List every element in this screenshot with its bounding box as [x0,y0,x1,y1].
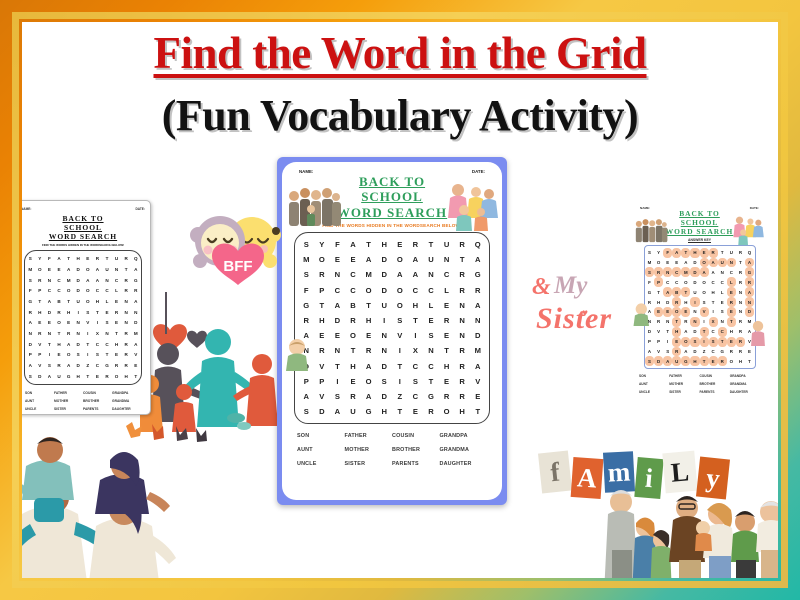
word-list-item[interactable]: GRANDPA [112,391,141,395]
letter-cell[interactable]: S [45,360,55,371]
letter-cell[interactable]: S [298,267,314,282]
letter-grid-container[interactable]: SYFATHERTURQMOEEADOAUNTASRNCMDAANCRGFPCC… [24,250,142,384]
letter-cell[interactable]: A [298,389,314,404]
letter-cell[interactable]: H [361,313,377,328]
letter-cell[interactable]: S [330,389,346,404]
letter-cell[interactable]: S [298,404,314,419]
letter-cell[interactable]: V [131,350,141,361]
letter-cell[interactable]: P [298,374,314,389]
letter-cell[interactable]: T [131,371,141,382]
letter-cell[interactable]: D [376,267,392,282]
letter-cell[interactable]: T [345,343,361,358]
letter-cell[interactable]: T [408,313,424,328]
letter-cell[interactable]: R [102,371,112,382]
letter-cell[interactable]: E [663,307,672,317]
letter-cell[interactable]: H [121,371,131,382]
letter-cell[interactable]: O [727,356,736,366]
letter-cell[interactable]: N [690,307,699,317]
letter-cell[interactable]: E [314,328,330,343]
letter-cell[interactable]: E [709,356,718,366]
letter-cell[interactable]: L [718,287,727,297]
letter-cell[interactable]: G [681,356,690,366]
letter-cell[interactable]: T [45,339,55,350]
worksheet-thumbnail-bw[interactable]: NAME: DATE: BACK TO SCHOOL WORD SEARCH F… [22,200,151,415]
letter-cell[interactable]: A [645,347,654,357]
letter-cell[interactable]: F [645,277,654,287]
letter-cell[interactable]: D [690,347,699,357]
letter-cell[interactable]: D [376,252,392,267]
worksheet-main-color[interactable]: NAME: DATE: BACK TO SCHOOL WORD SEARCH F… [277,157,507,505]
letter-cell[interactable]: D [35,371,45,382]
letter-cell[interactable]: O [83,285,93,296]
letter-cell[interactable]: E [718,297,727,307]
letter-cell[interactable]: C [112,275,122,286]
letter-cell[interactable]: E [330,252,346,267]
letter-cell[interactable]: C [102,285,112,296]
letter-cell[interactable]: I [663,337,672,347]
letter-cell[interactable]: P [314,283,330,298]
letter-cell[interactable]: R [121,275,131,286]
letter-cell[interactable]: T [654,287,663,297]
letter-cell[interactable]: I [392,343,408,358]
letter-cell[interactable]: S [663,347,672,357]
letter-cell[interactable]: I [45,350,55,361]
letter-cell[interactable]: C [709,347,718,357]
letter-cell[interactable]: E [345,374,361,389]
letter-cell[interactable]: A [745,327,754,337]
letter-cell[interactable]: H [376,237,392,252]
letter-cell[interactable]: O [681,277,690,287]
letter-cell[interactable]: V [83,318,93,329]
letter-cell[interactable]: U [376,298,392,313]
letter-cell[interactable]: T [361,237,377,252]
word-list-item[interactable]: FATHER [54,391,83,395]
letter-cell[interactable]: S [25,275,35,286]
word-list-item[interactable]: BROTHER [700,382,730,386]
letter-cell[interactable]: N [121,296,131,307]
letter-cell[interactable]: T [392,404,408,419]
letter-cell[interactable]: D [690,277,699,287]
letter-cell[interactable]: O [83,296,93,307]
letter-cell[interactable]: R [298,313,314,328]
letter-cell[interactable]: C [663,277,672,287]
letter-cell[interactable]: N [112,264,122,275]
letter-cell[interactable]: R [439,313,455,328]
letter-cell[interactable]: A [131,339,141,350]
letter-cell[interactable]: A [470,252,486,267]
letter-cell[interactable]: G [131,275,141,286]
letter-cell[interactable]: R [454,374,470,389]
letter-cell[interactable]: R [709,248,718,258]
word-list-item[interactable]: GRANDPA [730,374,760,378]
letter-cell[interactable]: C [718,277,727,287]
letter-cell[interactable]: T [102,350,112,361]
letter-cell[interactable]: T [736,258,745,268]
letter-cell[interactable]: B [54,296,64,307]
letter-cell[interactable]: S [392,313,408,328]
word-list-item[interactable]: SON [297,433,345,439]
letter-cell[interactable]: E [54,264,64,275]
letter-cell[interactable]: Y [314,237,330,252]
letter-cell[interactable]: E [45,318,55,329]
letter-cell[interactable]: E [727,287,736,297]
letter-cell[interactable]: A [330,298,346,313]
letter-cell[interactable]: S [690,337,699,347]
letter-cell[interactable]: A [25,360,35,371]
letter-cell[interactable]: N [745,297,754,307]
letter-cell[interactable]: N [727,258,736,268]
letter-cell[interactable]: H [690,356,699,366]
letter-cell[interactable]: P [645,337,654,347]
letter-cell[interactable]: C [718,327,727,337]
letter-cell[interactable]: C [408,358,424,373]
letter-cell[interactable]: T [83,339,93,350]
letter-cell[interactable]: N [25,328,35,339]
letter-cell[interactable]: D [376,283,392,298]
letter-cell[interactable]: N [102,328,112,339]
letter-cell[interactable]: T [454,252,470,267]
letter-cell[interactable]: C [709,277,718,287]
letter-cell[interactable]: R [718,356,727,366]
letter-cell[interactable]: H [672,327,681,337]
word-list-item[interactable]: PARENTS [392,461,440,467]
letter-cell[interactable]: R [121,285,131,296]
letter-cell[interactable]: T [663,327,672,337]
letter-cell[interactable]: R [654,317,663,327]
word-list-item[interactable]: AUNT [639,382,669,386]
letter-cell[interactable]: S [423,328,439,343]
letter-cell[interactable]: E [361,328,377,343]
letter-cell[interactable]: E [439,298,455,313]
letter-cell[interactable]: G [361,404,377,419]
letter-cell[interactable]: C [54,285,64,296]
letter-cell[interactable]: R [131,285,141,296]
word-list-item[interactable]: AUNT [297,447,345,453]
letter-cell[interactable]: T [470,404,486,419]
letter-cell[interactable]: I [83,350,93,361]
letter-cell[interactable]: I [709,307,718,317]
letter-cell[interactable]: R [736,327,745,337]
letter-cell[interactable]: S [73,350,83,361]
letter-cell[interactable]: H [314,313,330,328]
letter-cell[interactable]: Z [83,360,93,371]
letter-cell[interactable]: E [745,347,754,357]
letter-cell[interactable]: O [700,258,709,268]
letter-cell[interactable]: N [470,313,486,328]
letter-cell[interactable]: V [470,374,486,389]
word-list-item[interactable]: BROTHER [83,399,112,403]
letter-cell[interactable]: A [361,252,377,267]
letter-cell[interactable]: D [376,389,392,404]
letter-cell[interactable]: D [330,313,346,328]
letter-cell[interactable]: C [423,283,439,298]
letter-cell[interactable]: E [439,328,455,343]
letter-cell[interactable]: D [654,356,663,366]
letter-cell[interactable]: Q [745,248,754,258]
letter-cell[interactable]: S [298,237,314,252]
letter-cell[interactable]: I [700,337,709,347]
letter-cell[interactable]: S [645,248,654,258]
letter-cell[interactable]: I [690,297,699,307]
letter-cell[interactable]: G [102,360,112,371]
letter-cell[interactable]: P [25,350,35,361]
word-list-item[interactable]: PARENTS [700,390,730,394]
letter-cell[interactable]: B [672,287,681,297]
letter-cell[interactable]: T [35,296,45,307]
letter-cell[interactable]: E [35,318,45,329]
letter-cell[interactable]: C [345,267,361,282]
letter-cell[interactable]: V [654,327,663,337]
letter-cell[interactable]: O [681,337,690,347]
letter-cell[interactable]: O [83,264,93,275]
letter-cell[interactable]: S [700,297,709,307]
letter-cell[interactable]: R [54,360,64,371]
letter-cell[interactable]: D [745,307,754,317]
letter-cell[interactable]: U [672,356,681,366]
letter-cell[interactable]: A [25,318,35,329]
letter-cell[interactable]: E [681,307,690,317]
letter-cell[interactable]: S [102,318,112,329]
letter-cell[interactable]: C [345,283,361,298]
word-list-item[interactable]: MOTHER [54,399,83,403]
word-list-item[interactable]: GRANDMA [112,399,141,403]
letter-cell[interactable]: D [663,297,672,307]
letter-cell[interactable]: X [93,328,103,339]
letter-cell[interactable]: T [727,317,736,327]
letter-cell[interactable]: S [93,350,103,361]
letter-cell[interactable]: A [93,275,103,286]
letter-cell[interactable]: L [102,296,112,307]
letter-cell[interactable]: N [718,317,727,327]
letter-cell[interactable]: R [112,307,122,318]
letter-cell[interactable]: Y [35,253,45,264]
letter-cell[interactable]: A [64,360,74,371]
letter-cell[interactable]: E [727,307,736,317]
letter-cell[interactable]: E [439,374,455,389]
word-list-item[interactable]: SISTER [669,390,699,394]
letter-cell[interactable]: R [736,317,745,327]
letter-cell[interactable]: N [330,343,346,358]
letter-cell[interactable]: R [314,267,330,282]
letter-cell[interactable]: P [314,374,330,389]
letter-cell[interactable]: E [64,318,74,329]
letter-cell[interactable]: R [121,360,131,371]
letter-cell[interactable]: N [645,317,654,327]
letter-cell[interactable]: U [54,371,64,382]
letter-cell[interactable]: R [727,297,736,307]
letter-cell[interactable]: G [423,389,439,404]
letter-cell[interactable]: R [121,328,131,339]
word-list-item[interactable]: DAUGHTER [730,390,760,394]
letter-cell[interactable]: A [361,358,377,373]
letter-cell[interactable]: H [736,356,745,366]
letter-cell[interactable]: U [690,287,699,297]
letter-cell[interactable]: A [681,347,690,357]
letter-cell[interactable]: C [439,267,455,282]
letter-cell[interactable]: R [64,328,74,339]
letter-cell[interactable]: E [330,328,346,343]
letter-cell[interactable]: E [654,307,663,317]
word-list-item[interactable]: GRANDMA [730,382,760,386]
letter-cell[interactable]: Q [131,253,141,264]
letter-cell[interactable]: R [35,275,45,286]
word-list-item[interactable]: MOTHER [345,447,393,453]
letter-cell[interactable]: E [45,264,55,275]
letter-cell[interactable]: U [727,248,736,258]
letter-cell[interactable]: C [709,327,718,337]
letter-cell[interactable]: R [736,337,745,347]
letter-cell[interactable]: M [470,343,486,358]
letter-cell[interactable]: S [408,374,424,389]
letter-cell[interactable]: R [93,253,103,264]
letter-cell[interactable]: A [93,264,103,275]
word-list-item[interactable]: SISTER [54,407,83,411]
letter-cell[interactable]: V [745,337,754,347]
letter-cell[interactable]: N [376,343,392,358]
letter-cell[interactable]: A [645,307,654,317]
letter-cell[interactable]: S [645,356,654,366]
letter-cell[interactable]: F [298,283,314,298]
letter-cell[interactable]: T [681,287,690,297]
letter-cell[interactable]: N [718,267,727,277]
letter-cell[interactable]: T [423,374,439,389]
letter-cell[interactable]: R [35,328,45,339]
letter-cell[interactable]: O [672,307,681,317]
letter-cell[interactable]: N [423,267,439,282]
letter-cell[interactable]: S [83,307,93,318]
letter-cell[interactable]: B [345,298,361,313]
letter-cell[interactable]: X [408,343,424,358]
letter-cell[interactable]: T [700,356,709,366]
letter-cell[interactable]: N [663,267,672,277]
letter-cell[interactable]: D [73,360,83,371]
letter-cell[interactable]: T [681,248,690,258]
letter-cell[interactable]: U [102,264,112,275]
word-list-item[interactable]: SON [639,374,669,378]
letter-cell[interactable]: N [439,252,455,267]
letter-cell[interactable]: A [681,258,690,268]
letter-cell[interactable]: R [314,343,330,358]
letter-cell[interactable]: T [745,356,754,366]
letter-cell[interactable]: A [64,339,74,350]
word-list-item[interactable]: FATHER [345,433,393,439]
letter-cell[interactable]: E [54,350,64,361]
word-list-item[interactable]: GRANDPA [440,433,488,439]
letter-cell[interactable]: D [45,307,55,318]
letter-cell[interactable]: E [93,371,103,382]
letter-cell[interactable]: P [654,277,663,287]
letter-cell[interactable]: R [345,313,361,328]
letter-cell[interactable]: I [73,307,83,318]
letter-cell[interactable]: V [314,358,330,373]
letter-cell[interactable]: O [345,328,361,343]
letter-cell[interactable]: D [73,285,83,296]
letter-cell[interactable]: T [330,358,346,373]
letter-cell[interactable]: T [392,358,408,373]
letter-cell[interactable]: I [83,328,93,339]
letter-cell[interactable]: R [361,343,377,358]
letter-cell[interactable]: R [736,267,745,277]
letter-cell[interactable]: A [131,264,141,275]
letter-cell[interactable]: F [25,285,35,296]
letter-cell[interactable]: H [73,253,83,264]
letter-cell[interactable]: H [73,371,83,382]
letter-cell[interactable]: D [645,327,654,337]
letter-cell[interactable]: U [439,237,455,252]
letter-cell[interactable]: A [345,237,361,252]
letter-cell[interactable]: T [112,328,122,339]
letter-cell[interactable]: V [392,328,408,343]
word-list-item[interactable]: BROTHER [392,447,440,453]
letter-cell[interactable]: G [718,347,727,357]
letter-cell[interactable]: O [654,258,663,268]
letter-cell[interactable]: N [121,307,131,318]
letter-cell[interactable]: R [672,347,681,357]
letter-cell[interactable]: D [73,339,83,350]
word-list-item[interactable]: GRANDMA [440,447,488,453]
letter-cell[interactable]: E [112,296,122,307]
letter-cell[interactable]: C [672,277,681,287]
letter-cell[interactable]: E [102,307,112,318]
letter-cell[interactable]: O [361,374,377,389]
letter-cell[interactable]: A [361,389,377,404]
letter-cell[interactable]: D [690,327,699,337]
letter-cell[interactable]: R [423,404,439,419]
letter-cell[interactable]: O [314,252,330,267]
letter-cell[interactable]: A [408,252,424,267]
letter-cell[interactable]: H [54,339,64,350]
letter-cell[interactable]: D [73,264,83,275]
letter-grid-container[interactable]: SYFATHERTURQMOEEADOAUNTASRNCMDAANCRGFPCC… [644,245,756,370]
letter-cell[interactable]: E [727,337,736,347]
letter-cell[interactable]: U [423,252,439,267]
letter-cell[interactable]: T [672,317,681,327]
letter-cell[interactable]: D [690,267,699,277]
letter-cell[interactable]: O [35,264,45,275]
letter-cell[interactable]: C [54,275,64,286]
letter-cell[interactable]: T [54,328,64,339]
letter-cell[interactable]: E [423,313,439,328]
letter-cell[interactable]: H [439,358,455,373]
letter-cell[interactable]: A [663,287,672,297]
letter-cell[interactable]: N [330,267,346,282]
letter-cell[interactable]: D [376,358,392,373]
letter-cell[interactable]: R [654,267,663,277]
letter-cell[interactable]: N [454,328,470,343]
letter-cell[interactable]: F [330,237,346,252]
letter-cell[interactable]: V [654,347,663,357]
letter-cell[interactable]: M [681,267,690,277]
letter-cell[interactable]: E [392,237,408,252]
word-list-item[interactable]: DAUGHTER [112,407,141,411]
letter-cell[interactable]: T [718,248,727,258]
letter-cell[interactable]: I [700,317,709,327]
letter-cell[interactable]: E [672,337,681,347]
letter-cell[interactable]: I [93,318,103,329]
letter-cell[interactable]: R [454,283,470,298]
letter-cell[interactable]: E [470,389,486,404]
letter-cell[interactable]: R [121,253,131,264]
letter-cell[interactable]: R [736,248,745,258]
word-list-item[interactable]: PARENTS [83,407,112,411]
letter-cell[interactable]: C [93,360,103,371]
letter-cell[interactable]: R [112,360,122,371]
letter-cell[interactable]: E [345,252,361,267]
letter-cell[interactable]: A [745,287,754,297]
letter-cell[interactable]: A [64,264,74,275]
letter-cell[interactable]: T [700,327,709,337]
letter-cell[interactable]: E [672,258,681,268]
